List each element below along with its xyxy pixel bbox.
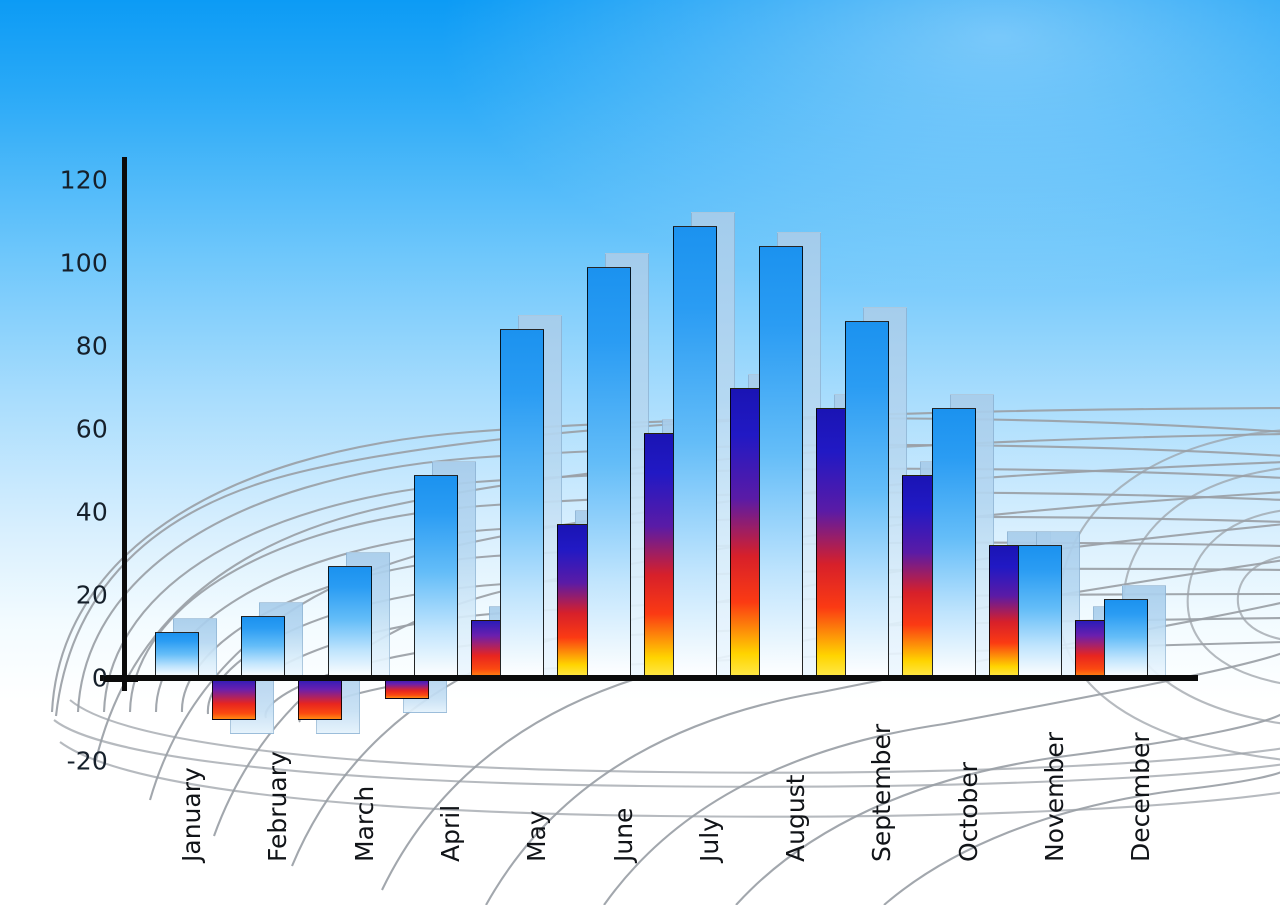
bar-february-series1-face	[241, 616, 285, 678]
bar-september-series1[interactable]	[845, 321, 889, 678]
bar-january-series1[interactable]	[155, 632, 199, 678]
bar-march-series2-face	[385, 678, 429, 699]
x-label-august: August	[781, 775, 810, 863]
y-tick-label: 100	[0, 249, 108, 278]
bar-november-series1-face	[1018, 545, 1062, 678]
bar-august-series1[interactable]	[759, 246, 803, 678]
bar-february-series2-face	[298, 678, 342, 720]
x-label-july: July	[695, 817, 724, 862]
bar-january-series2[interactable]	[212, 678, 256, 720]
bar-december-series1-face	[1104, 599, 1148, 678]
chart-canvas: -20020406080100120 JanuaryFebruaryMarchA…	[0, 0, 1280, 905]
bar-april-series1-face	[414, 475, 458, 678]
bar-may-series1-face	[500, 329, 544, 678]
bar-april-series1[interactable]	[414, 475, 458, 678]
x-label-april: April	[436, 805, 465, 862]
x-label-march: March	[350, 786, 379, 862]
bar-october-series1[interactable]	[932, 408, 976, 678]
bar-september-series1-face	[845, 321, 889, 678]
y-tick-label: -20	[0, 747, 108, 776]
bar-february-series2[interactable]	[298, 678, 342, 720]
y-tick-label: 20	[0, 581, 108, 610]
bar-february-series1[interactable]	[241, 616, 285, 678]
bar-november-series1[interactable]	[1018, 545, 1062, 678]
y-tick-label: 80	[0, 332, 108, 361]
x-label-december: December	[1126, 732, 1155, 862]
bar-august-series1-face	[759, 246, 803, 678]
bar-march-series2[interactable]	[385, 678, 429, 699]
bar-january-series2-face	[212, 678, 256, 720]
bar-june-series1-face	[587, 267, 631, 678]
y-tick-mark	[104, 676, 138, 682]
bar-march-series1-face	[328, 566, 372, 678]
x-label-may: May	[522, 810, 551, 862]
x-label-november: November	[1040, 732, 1069, 862]
y-tick-label: 0	[0, 664, 108, 693]
y-tick-label: 40	[0, 498, 108, 527]
y-axis	[122, 157, 127, 691]
y-tick-label: 120	[0, 166, 108, 195]
bar-december-series1[interactable]	[1104, 599, 1148, 678]
bar-july-series1[interactable]	[673, 226, 717, 678]
x-axis-zero-line	[100, 675, 1198, 681]
bar-october-series1-face	[932, 408, 976, 678]
bar-june-series1[interactable]	[587, 267, 631, 678]
y-tick-label: 60	[0, 415, 108, 444]
x-label-october: October	[954, 762, 983, 862]
bar-july-series1-face	[673, 226, 717, 678]
x-label-february: February	[263, 751, 292, 862]
x-label-january: January	[177, 767, 206, 862]
bar-january-series1-face	[155, 632, 199, 678]
bar-march-series1[interactable]	[328, 566, 372, 678]
x-label-september: September	[867, 724, 896, 862]
x-label-june: June	[609, 808, 638, 862]
bar-may-series1[interactable]	[500, 329, 544, 678]
